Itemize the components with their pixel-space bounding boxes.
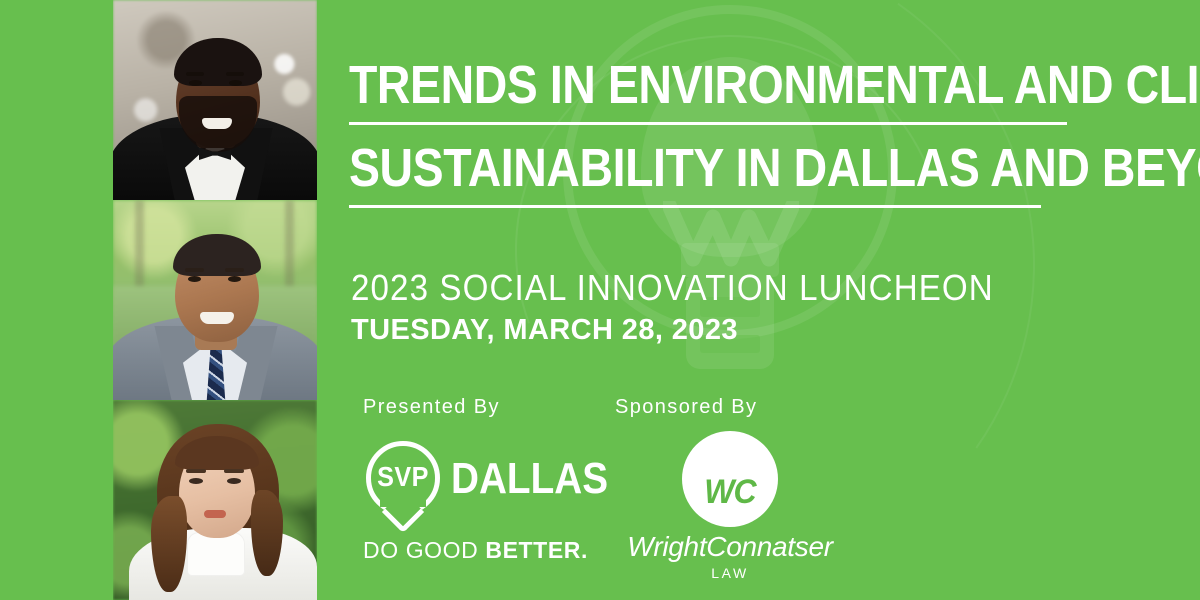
svp-dallas-logo: SVP DALLAS [363,441,583,527]
photo-3-eye-left [189,478,203,484]
banner-content: TRENDS IN ENVIRONMENTAL AND CLIMATE SUST… [349,0,1089,600]
svp-tagline-bold: BETTER. [485,537,588,563]
photo-1-brow-right [226,72,244,76]
event-banner: TRENDS IN ENVIRONMENTAL AND CLIMATE SUST… [0,0,1200,600]
event-title: TRENDS IN ENVIRONMENTAL AND CLIMATE SUST… [349,56,1075,222]
photo-2-smile [200,312,234,324]
photo-1-eye-right [229,80,242,86]
photo-2-eye-right [228,276,241,282]
title-rule-1 [349,122,1067,125]
logos-row: Presented By SVP DALLAS DO GOOD BETTER. … [349,396,1089,586]
wrightconnatser-wordmark: WrightConnatser [615,531,845,563]
svp-wordmark: DALLAS [451,454,608,504]
speaker-photo-2 [113,200,317,400]
event-subtitle: 2023 SOCIAL INNOVATION LUNCHEON [351,268,994,308]
sponsored-by-label: Sponsored By [615,396,845,419]
event-title-line-2: SUSTAINABILITY IN DALLAS AND BEYOND [349,139,973,197]
svp-tagline: DO GOOD BETTER. [363,537,583,564]
photo-2-eye-left [188,276,201,282]
speaker-photo-3 [113,400,317,600]
photo-2-brow-left [185,268,204,272]
speaker-photo-column [113,0,317,600]
presented-by-label: Presented By [363,396,583,419]
photo-2-brow-right [225,268,244,272]
photo-3-brow-right [224,469,244,473]
event-title-line-1: TRENDS IN ENVIRONMENTAL AND CLIMATE [349,56,973,114]
photo-1-brow-left [186,72,204,76]
photo-1-eye-left [189,80,202,86]
photo-3-eye-right [227,478,241,484]
photo-3-brow-left [186,469,206,473]
title-rule-2 [349,205,1041,208]
photo-3-collar [187,532,245,576]
wrightconnatser-logo-icon: WC [682,431,778,527]
photo-1-smile [202,118,232,129]
sponsored-by-block: Sponsored By WC WrightConnatser LAW [615,396,845,581]
wrightconnatser-sublabel: LAW [615,565,845,581]
wc-monogram: WC [685,473,775,512]
photo-3-lips [204,510,226,518]
map-pin-icon: SVP [366,441,440,525]
pin-mask [380,491,426,507]
speaker-photo-1 [113,0,317,200]
event-date: TUESDAY, MARCH 28, 2023 [351,313,738,347]
svp-tagline-light: DO GOOD [363,537,485,563]
presented-by-block: Presented By SVP DALLAS DO GOOD BETTER. [363,396,583,564]
svp-monogram: SVP [370,461,437,493]
